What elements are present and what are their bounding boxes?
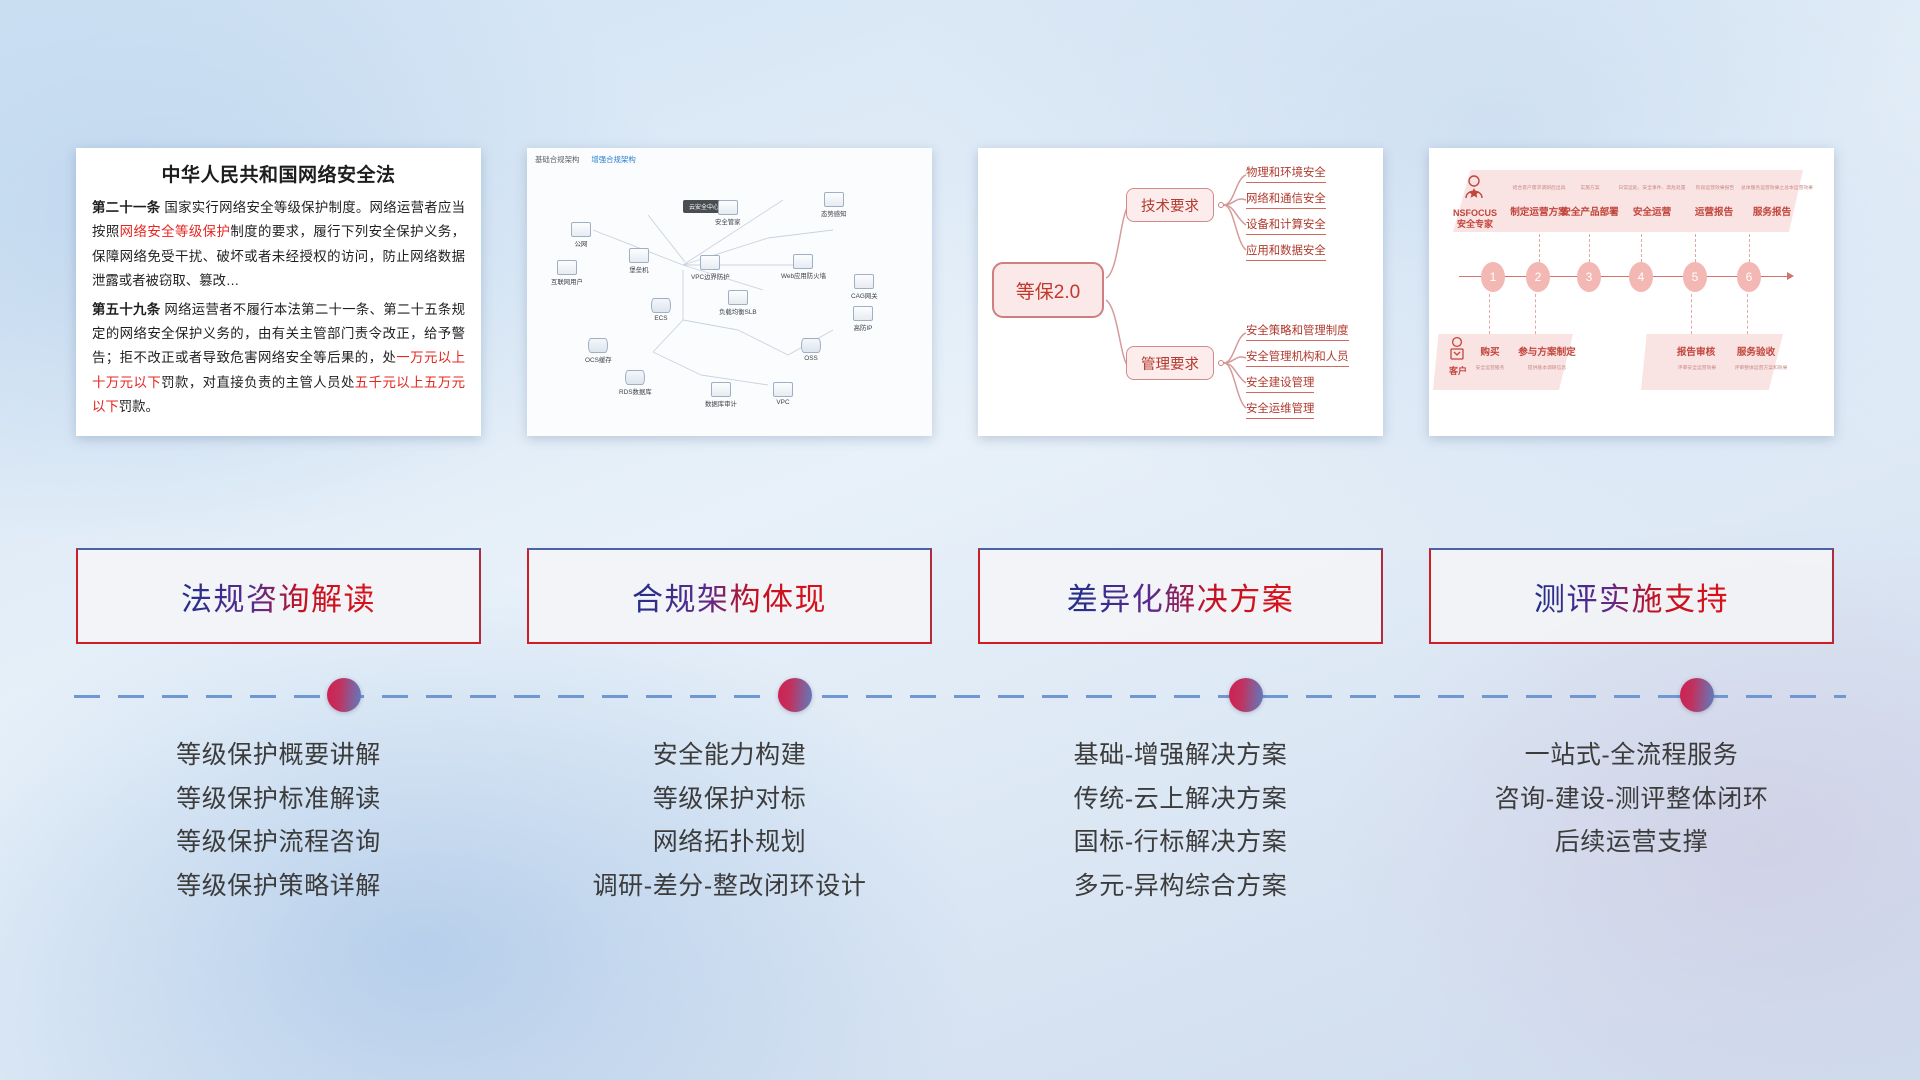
flow-top-caption-4: 服务报告 [1741,204,1803,218]
mindmap-root-node[interactable]: 等保2.0 [992,262,1104,318]
flow-dash-b1 [1489,294,1490,334]
arch-node-4: 态势感知 [821,192,847,218]
heading-label-3: 测评实施支持 [1534,574,1729,619]
arch-node-11: OCS缓存 [585,338,612,364]
flow-dash-b2 [1535,294,1536,334]
bastion-icon [629,248,649,263]
list-item: 网络拓扑规划 [653,827,807,858]
list-item: 传统-云上解决方案 [1074,784,1288,815]
users-icon [557,260,577,275]
heading-box-compliance-architecture[interactable]: 合规架构体现 [527,548,932,644]
flow-bottom-caption-3: 服务验收 [1725,344,1787,358]
list-item: 咨询-建设-测评整体闭环 [1495,784,1769,815]
card-compliance-architecture[interactable]: 基础合规架构 增强合规架构 云安全中心 公网 [527,148,932,436]
heading-box-differentiated-solution[interactable]: 差异化解决方案 [978,548,1383,644]
arch-node-15: VPC [773,382,793,406]
cache-icon [588,338,608,353]
mindmap-branch-technical[interactable]: 技术要求 [1126,188,1214,222]
list-item: 调研-差分-整改闭环设计 [593,871,867,902]
law-article-59: 第五十九条 网络运营者不履行本法第二十一条、第二十五条规定的网络安全保护义务的，… [92,298,465,420]
detail-column-3: 一站式-全流程服务 咨询-建设-测评整体闭环 后续运营支撑 [1429,740,1834,970]
flow-top-caption-3: 运营报告 [1683,204,1745,218]
flow-dash-6 [1749,234,1750,262]
card-nsfocus-service-flow[interactable]: NSFOCUS 安全专家 客户 1 2 3 4 5 6 [1429,148,1834,436]
list-item: 等级保护标准解读 [176,784,381,815]
flow-axis-node-3[interactable]: 3 [1577,262,1601,292]
mindmap-collapse-dot-technical[interactable] [1218,202,1224,208]
detail-column-0: 等级保护概要讲解 等级保护标准解读 等级保护流程咨询 等级保护策略详解 [76,740,481,970]
flow-bottom-caption-1: 参与方案制定 [1511,344,1583,358]
list-item: 多元-异构综合方案 [1074,871,1288,902]
arch-node-7: 负载均衡SLB [719,290,757,316]
flow-axis-node-4[interactable]: 4 [1629,262,1653,292]
mindmap-leaf-tech-0: 物理和环境安全 [1246,164,1326,183]
arch-node-12: RDS数据库 [619,370,652,396]
thumbnail-cards-row: 中华人民共和国网络安全法 第二十一条 国家实行网络安全等级保护制度。网络运营者应… [76,148,1844,438]
flow-bottom-sub-1: 提供基本调研信息 [1509,364,1585,371]
timeline-dot-2[interactable] [1229,678,1263,712]
expert-label: NSFOCUS 安全专家 [1453,208,1497,231]
arch-node-13: OSS [801,338,821,362]
antiddos-icon [853,306,873,321]
architecture-tabs[interactable]: 基础合规架构 增强合规架构 [535,154,636,165]
detail-columns-row: 等级保护概要讲解 等级保护标准解读 等级保护流程咨询 等级保护策略详解 安全能力… [76,740,1844,970]
mindmap-leaf-tech-1: 网络和通信安全 [1246,190,1326,209]
flow-bottom-caption-2: 报告审核 [1665,344,1727,358]
list-item: 等级保护概要讲解 [176,740,381,771]
slide-canvas: 中华人民共和国网络安全法 第二十一条 国家实行网络安全等级保护制度。网络运营者应… [0,0,1920,1080]
flow-bottom-caption-0: 购买 [1467,344,1513,358]
flow-axis-node-6[interactable]: 6 [1737,262,1761,292]
flow-dash-5 [1695,234,1696,262]
mindmap-leaf-tech-2: 设备和计算安全 [1246,216,1326,235]
arch-node-0: 公网 [571,222,591,248]
flow-axis-node-5[interactable]: 5 [1683,262,1707,292]
article-21-label: 第二十一条 [92,200,160,215]
law-card-title: 中华人民共和国网络安全法 [92,160,465,187]
oss-icon [801,338,821,353]
mindmap-leaf-mgmt-0: 安全策略和管理制度 [1246,322,1349,341]
timeline-dot-1[interactable] [778,678,812,712]
article-59-text-3: 罚款。 [119,399,159,414]
flow-band-customer-right [1641,334,1783,390]
heading-box-regulation-consulting[interactable]: 法规咨询解读 [76,548,481,644]
flow-bottom-sub-3: 评审整体运营方案和效果 [1717,364,1805,371]
arch-node-1: 互联网用户 [551,260,583,286]
mindmap-leaf-tech-3: 应用和数据安全 [1246,242,1326,261]
heading-label-0: 法规咨询解读 [181,574,376,619]
arch-node-3: 安全管家 [715,200,741,226]
list-item: 等级保护流程咨询 [176,827,381,858]
list-item: 国标-行标解决方案 [1074,827,1288,858]
detail-column-2: 基础-增强解决方案 传统-云上解决方案 国标-行标解决方案 多元-异构综合方案 [978,740,1383,970]
shield-icon [718,200,738,215]
gateway-icon [854,274,874,289]
detail-column-1: 安全能力构建 等级保护对标 网络拓扑规划 调研-差分-整改闭环设计 [527,740,932,970]
mindmap-branch-management[interactable]: 管理要求 [1126,346,1214,380]
expert-person-icon [1463,174,1485,208]
flow-dash-2 [1539,234,1540,262]
heading-boxes-row: 法规咨询解读 合规架构体现 差异化解决方案 测评实施支持 [76,548,1844,644]
architecture-canvas: 云安全中心 公网 互联网用户 堡垒机 安全管家 态势感知 VPC边界防护 ECS… [533,170,926,430]
list-item: 等级保护对标 [653,784,807,815]
list-item: 安全能力构建 [653,740,807,771]
timeline-track [74,694,1846,698]
radar-icon [824,192,844,207]
vpc-icon [773,382,793,397]
list-item: 后续运营支撑 [1555,827,1709,858]
list-item: 等级保护策略详解 [176,871,381,902]
flow-band-expert [1453,170,1803,232]
card-cybersecurity-law[interactable]: 中华人民共和国网络安全法 第二十一条 国家实行网络安全等级保护制度。网络运营者应… [76,148,481,436]
audit-icon [711,382,731,397]
flow-top-caption-2: 安全运营 [1621,204,1683,218]
arch-node-2: 堡垒机 [629,248,649,274]
tab-enhanced-architecture[interactable]: 增强合规架构 [591,154,635,165]
waf-icon [793,254,813,269]
flow-top-sub-4: 总体服务运营效果之总本运营效果 [1727,184,1827,191]
mindmap-leaf-mgmt-3: 安全运维管理 [1246,400,1314,419]
mindmap-collapse-dot-management[interactable] [1218,360,1224,366]
law-article-21: 第二十一条 国家实行网络安全等级保护制度。网络运营者应当按照网络安全等级保护制度… [92,196,465,294]
arch-node-14: 数据库审计 [705,382,737,408]
vpc-shield-icon [700,255,720,270]
mindmap-leaf-mgmt-1: 安全管理机构和人员 [1246,348,1349,367]
article-21-highlight: 网络安全等级保护 [120,224,231,239]
arch-node-8: Web应用防火墙 [781,254,826,280]
flow-axis-node-2[interactable]: 2 [1526,262,1550,292]
article-59-text-2: 罚款，对直接负责的主管人员处 [161,375,355,390]
flow-dash-4 [1641,234,1642,262]
list-item: 一站式-全流程服务 [1525,740,1739,771]
customer-person-icon [1447,336,1467,366]
balancer-icon [728,290,748,305]
heading-label-1: 合规架构体现 [632,574,827,619]
tab-basic-architecture[interactable]: 基础合规架构 [535,154,579,165]
list-item: 基础-增强解决方案 [1074,740,1288,771]
timeline-dot-0[interactable] [327,678,361,712]
flow-axis-node-1[interactable]: 1 [1481,262,1505,292]
article-59-label: 第五十九条 [92,302,160,317]
arch-node-9: CAG网关 [851,274,878,300]
timeline-dot-3[interactable] [1680,678,1714,712]
heading-box-assessment-support[interactable]: 测评实施支持 [1429,548,1834,644]
cloud-icon [571,222,591,237]
mindmap-leaf-mgmt-2: 安全建设管理 [1246,374,1314,393]
arch-node-5: VPC边界防护 [691,255,730,281]
server-icon [651,298,671,313]
flow-dash-b5 [1691,294,1692,334]
arch-node-6: ECS [651,298,671,322]
flow-top-caption-1: 安全产品部署 [1559,204,1621,218]
flow-dash-b6 [1747,294,1748,334]
heading-label-2: 差异化解决方案 [1067,574,1295,619]
flow-arrow-icon [1787,272,1794,280]
flow-dash-3 [1589,234,1590,262]
database-icon [625,370,645,385]
card-dengbao-mindmap[interactable]: 等保2.0 技术要求 物理和环境安全 网络和通信安全 设备和计算安全 应用和数据… [978,148,1383,436]
arch-node-10: 高防IP [853,306,873,332]
